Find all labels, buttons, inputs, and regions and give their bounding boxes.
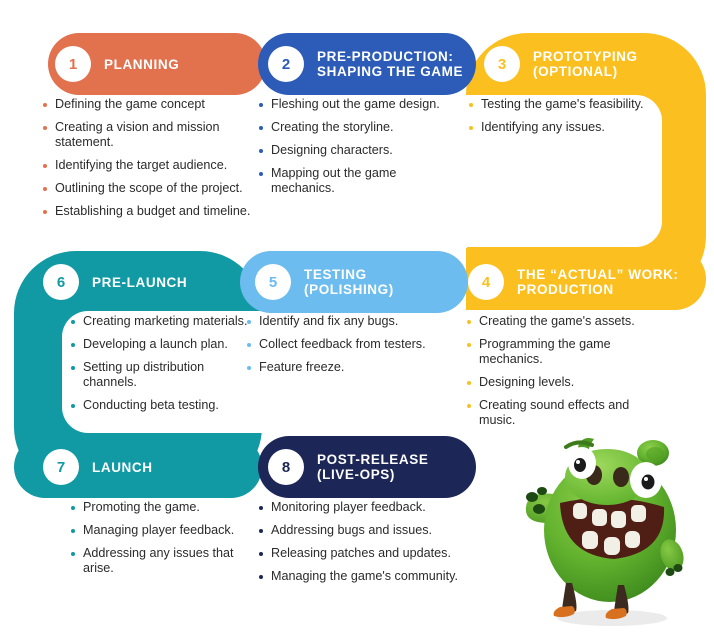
list-item: Mapping out the game mechanics. [258, 166, 458, 196]
list-item: Fleshing out the game design. [258, 97, 458, 112]
list-item: Creating the storyline. [258, 120, 458, 135]
green-pig-character [520, 425, 702, 630]
list-item-label: Addressing bugs and issues. [271, 523, 458, 538]
band-step-2[interactable] [258, 33, 476, 95]
list-item: Managing the game's community. [258, 569, 458, 584]
list-item-label: Setting up distribution channels. [83, 360, 260, 390]
list-item-label: Feature freeze. [259, 360, 454, 375]
list-item: Programming the game mechanics. [466, 337, 656, 367]
list-item: Designing characters. [258, 143, 458, 158]
band-step-8[interactable] [258, 436, 476, 498]
list-item: Creating the game's assets. [466, 314, 656, 329]
list-item-label: Addressing any issues that arise. [83, 546, 260, 576]
list-item: Creating sound effects and music. [466, 398, 656, 428]
band-step-1[interactable] [48, 33, 266, 95]
list-item-label: Creating sound effects and music. [479, 398, 656, 428]
list-item: Feature freeze. [246, 360, 454, 375]
list-item: Defining the game concept [42, 97, 254, 112]
band-teal-row3 [14, 436, 262, 498]
infographic-canvas: 1 PLANNING 2 PRE-PRODUCTION: SHAPING THE… [0, 0, 714, 638]
list-item-label: Identifying the target audience. [55, 158, 254, 173]
list-item: Identifying the target audience. [42, 158, 254, 173]
list-item: Monitoring player feedback. [258, 500, 458, 515]
list-item-label: Creating a vision and mission statement. [55, 120, 254, 150]
list-item: Identifying any issues. [468, 120, 653, 135]
list-item-label: Collect feedback from testers. [259, 337, 454, 352]
step-list-1: Defining the game conceptCreating a visi… [42, 97, 254, 227]
list-item: Designing levels. [466, 375, 656, 390]
list-item-label: Identify and fix any bugs. [259, 314, 454, 329]
list-item-label: Fleshing out the game design. [271, 97, 458, 112]
list-item-label: Defining the game concept [55, 97, 254, 112]
band-yellow-row2 [466, 248, 706, 310]
list-item-label: Managing the game's community. [271, 569, 458, 584]
pig-nostril-right [613, 467, 629, 487]
list-item: Setting up distribution channels. [70, 360, 260, 390]
list-item-label: Designing characters. [271, 143, 458, 158]
list-item: Addressing any issues that arise. [70, 546, 260, 576]
list-item: Creating a vision and mission statement. [42, 120, 254, 150]
list-item: Creating marketing materials. [70, 314, 260, 329]
list-item: Developing a launch plan. [70, 337, 260, 352]
step-list-2: Fleshing out the game design.Creating th… [258, 97, 458, 204]
list-item-label: Promoting the game. [83, 500, 260, 515]
list-item: Conducting beta testing. [70, 398, 260, 413]
list-item-label: Designing levels. [479, 375, 656, 390]
list-item-label: Testing the game's feasibility. [481, 97, 653, 112]
list-item: Managing player feedback. [70, 523, 260, 538]
list-item-label: Managing player feedback. [83, 523, 260, 538]
list-item: Addressing bugs and issues. [258, 523, 458, 538]
list-item-label: Creating marketing materials. [83, 314, 260, 329]
list-item-label: Identifying any issues. [481, 120, 653, 135]
list-item: Identify and fix any bugs. [246, 314, 454, 329]
list-item: Outlining the scope of the project. [42, 181, 254, 196]
list-item-label: Conducting beta testing. [83, 398, 260, 413]
list-item: Releasing patches and updates. [258, 546, 458, 561]
list-item-label: Establishing a budget and timeline. [55, 204, 254, 219]
list-item-label: Creating the game's assets. [479, 314, 656, 329]
step-list-7: Promoting the game.Managing player feedb… [70, 500, 260, 584]
step-list-4: Creating the game's assets.Programming t… [466, 314, 656, 436]
list-item-label: Monitoring player feedback. [271, 500, 458, 515]
list-item-label: Creating the storyline. [271, 120, 458, 135]
list-item-label: Releasing patches and updates. [271, 546, 458, 561]
list-item-label: Developing a launch plan. [83, 337, 260, 352]
band-step-5[interactable] [240, 251, 468, 313]
list-item: Collect feedback from testers. [246, 337, 454, 352]
step-list-3: Testing the game's feasibility.Identifyi… [468, 97, 653, 143]
list-item-label: Programming the game mechanics. [479, 337, 656, 367]
step-list-6: Creating marketing materials.Developing … [70, 314, 260, 421]
list-item-label: Outlining the scope of the project. [55, 181, 254, 196]
list-item-label: Mapping out the game mechanics. [271, 166, 458, 196]
list-item: Testing the game's feasibility. [468, 97, 653, 112]
list-item: Establishing a budget and timeline. [42, 204, 254, 219]
list-item: Promoting the game. [70, 500, 260, 515]
step-list-8: Monitoring player feedback.Addressing bu… [258, 500, 458, 592]
step-list-5: Identify and fix any bugs.Collect feedba… [246, 314, 454, 383]
